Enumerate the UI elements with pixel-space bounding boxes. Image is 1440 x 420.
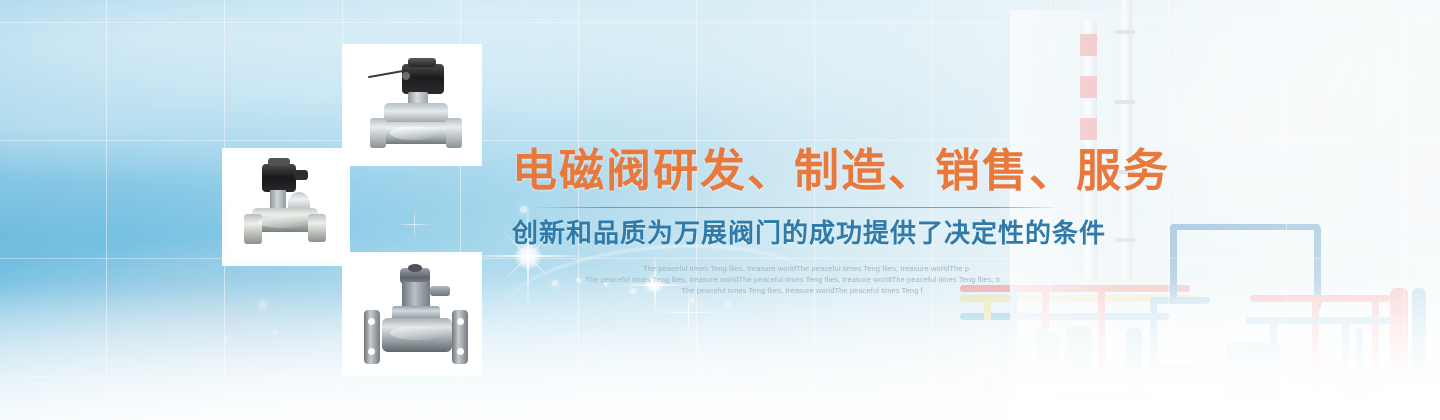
- banner-headline: 电磁阀研发、制造、销售、服务: [512, 148, 1112, 193]
- product-tile-solenoid-valve-threaded-inline[interactable]: [346, 48, 478, 162]
- flange-bolt-hole-2: [368, 348, 375, 355]
- flange-bolt-hole-4: [457, 348, 464, 355]
- micro-text-line-2: The peaceful times Teng flies, treasure …: [508, 274, 1078, 285]
- product-photo-2: [226, 152, 346, 262]
- product-photo-3: [346, 256, 478, 372]
- valve-highlight-2: [258, 216, 310, 228]
- valve-side-port-3: [430, 286, 450, 296]
- micro-text-line-1: The peaceful times Teng flies, treasure …: [534, 263, 1078, 274]
- flange-bolt-hole-3: [457, 318, 464, 325]
- product-tile-solenoid-valve-brass-angle[interactable]: [226, 152, 346, 262]
- micro-text-block: The peaceful times Teng flies, treasure …: [512, 263, 1078, 296]
- valve-lead-wire-1: [368, 70, 404, 78]
- valve-port-right-2: [308, 214, 326, 242]
- valve-port-left-1: [370, 118, 386, 148]
- valve-conduit-2: [294, 170, 308, 180]
- hero-banner: 电磁阀研发、制造、销售、服务 创新和品质为万展阀门的成功提供了决定性的条件 Th…: [0, 0, 1440, 420]
- micro-text-line-3: The peaceful times Teng flies, treasure …: [526, 285, 1078, 296]
- banner-subheadline: 创新和品质为万展阀门的成功提供了决定性的条件: [512, 220, 1112, 249]
- headline-divider: [538, 207, 1054, 208]
- valve-highlight-3: [390, 326, 444, 340]
- valve-coil-cap-1: [408, 58, 436, 67]
- valve-coil-cap-2: [268, 158, 290, 166]
- valve-wire-gland-1: [402, 72, 410, 80]
- valve-bolt-cap-3: [408, 264, 422, 272]
- valve-coil-2: [262, 164, 296, 192]
- valve-port-left-2: [244, 214, 262, 244]
- valve-port-right-1: [446, 118, 462, 148]
- valve-highlight-1: [390, 126, 440, 140]
- flange-bolt-hole-1: [368, 318, 375, 325]
- banner-copy: 电磁阀研发、制造、销售、服务 创新和品质为万展阀门的成功提供了决定性的条件 Th…: [512, 148, 1112, 296]
- product-photo-1: [346, 48, 478, 162]
- product-tile-solenoid-valve-flanged[interactable]: [346, 256, 478, 372]
- valve-neck-3: [402, 282, 430, 308]
